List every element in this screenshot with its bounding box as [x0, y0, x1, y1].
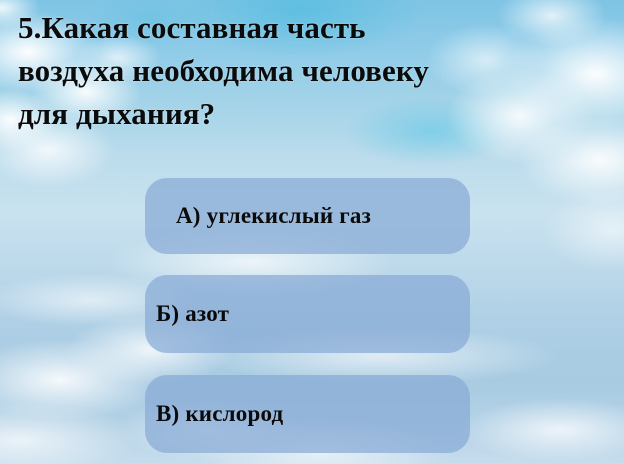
question-line-1: 5.Какая составная часть	[18, 6, 608, 49]
quiz-slide: 5.Какая составная часть воздуха необходи…	[0, 0, 624, 464]
answer-option-c-label: В) кислород	[156, 401, 283, 427]
answer-option-a[interactable]: А) углекислый газ	[145, 178, 470, 254]
question-text: 5.Какая составная часть воздуха необходи…	[18, 6, 608, 135]
answer-option-b-label: Б) азот	[156, 301, 229, 327]
answer-option-a-label: А) углекислый газ	[176, 203, 371, 229]
answer-option-c[interactable]: В) кислород	[145, 375, 470, 453]
question-line-2: воздуха необходима человеку	[18, 49, 608, 92]
question-line-3: для дыхания?	[18, 92, 608, 135]
answer-option-b[interactable]: Б) азот	[145, 275, 470, 353]
